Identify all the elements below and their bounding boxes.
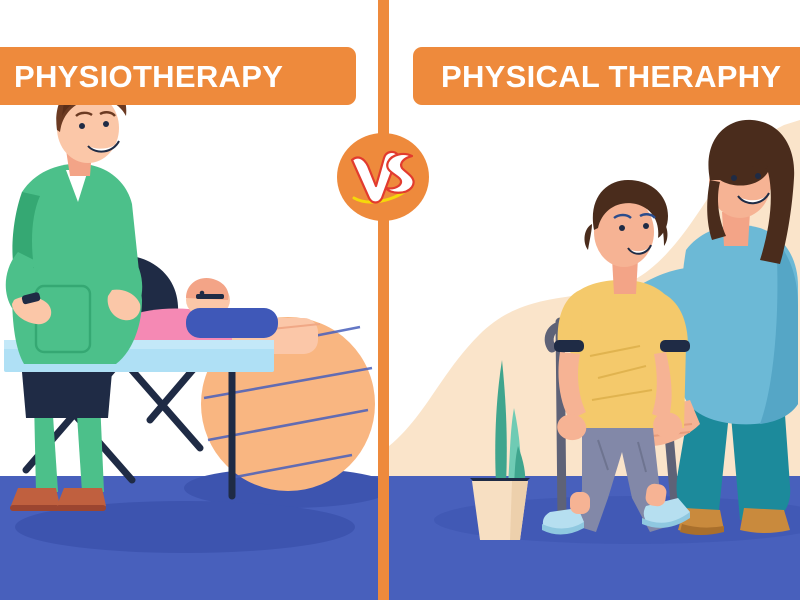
therapist-figure <box>6 78 142 511</box>
left-banner-label: PHYSIOTHERAPY <box>14 61 283 92</box>
therapist-shoes <box>10 488 106 511</box>
left-banner: PHYSIOTHERAPY <box>0 47 356 105</box>
potted-plant <box>470 360 530 540</box>
illustration-canvas: PHYSIOTHERAPY PHYSICAL THERAPHY VS <box>0 0 800 600</box>
vertical-divider <box>378 0 389 600</box>
right-banner-label: PHYSICAL THERAPHY <box>441 61 781 92</box>
right-banner: PHYSICAL THERAPHY <box>413 47 800 105</box>
vs-icon <box>346 146 420 208</box>
versus-badge <box>337 133 429 221</box>
boy-head <box>585 180 668 267</box>
